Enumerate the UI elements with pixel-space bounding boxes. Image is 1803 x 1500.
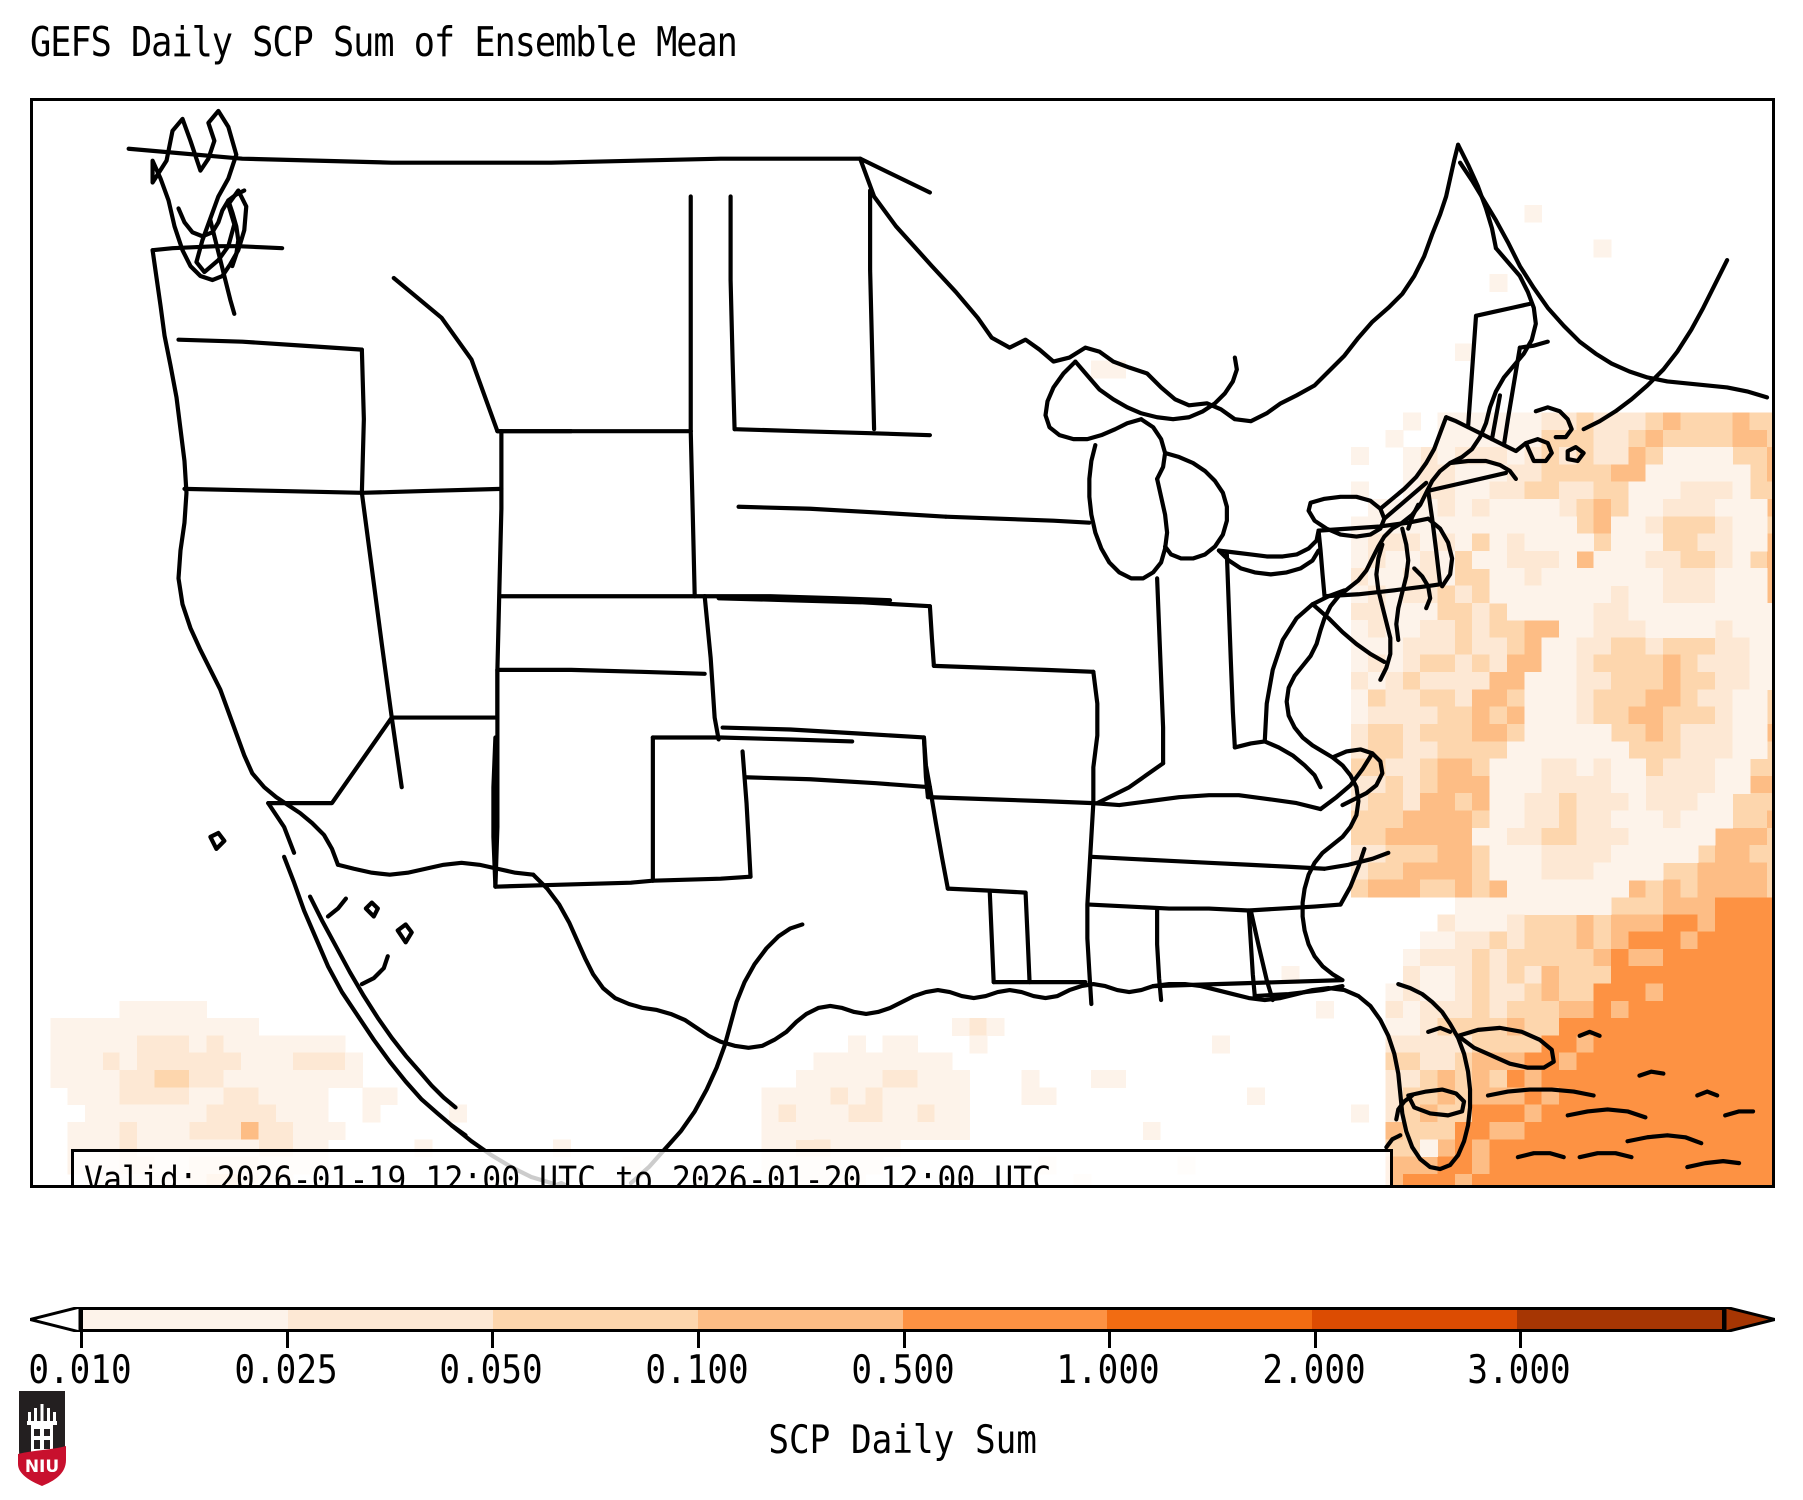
scp-grid-cell [1594, 499, 1612, 517]
scp-grid-cell [1559, 810, 1577, 828]
scp-grid-cell [1490, 464, 1508, 482]
scp-grid-cell [172, 1018, 190, 1036]
scp-grid-cell [1472, 1122, 1490, 1140]
scp-grid-cell [813, 1087, 831, 1105]
scp-grid-cell [1663, 482, 1681, 500]
scp-grid-cell [1698, 1122, 1716, 1140]
scp-grid-cell [1646, 672, 1664, 690]
scp-grid-cell [1715, 724, 1733, 742]
scp-grid-cell [813, 1122, 831, 1140]
scp-grid-cell [1403, 724, 1421, 742]
scp-grid-cell [1420, 568, 1438, 586]
scp-grid-cell [1767, 551, 1772, 569]
scp-grid-cell [1663, 603, 1681, 621]
scp-grid-cell [1490, 1035, 1508, 1053]
scp-grid-cell [1611, 897, 1629, 915]
scp-grid-cell [848, 1122, 866, 1140]
scp-grid-cell [917, 1053, 935, 1071]
scp-grid-cell [865, 1122, 883, 1140]
scp-grid-cell [206, 1070, 224, 1088]
scp-grid-cell [1472, 914, 1490, 932]
scp-grid-cell [1524, 499, 1542, 517]
scp-grid-cell [1368, 689, 1386, 707]
scp-grid-cell [1750, 482, 1768, 500]
scp-grid-cell [1767, 793, 1772, 811]
scp-grid-cell [1524, 1087, 1542, 1105]
scp-grid-cell [154, 1087, 172, 1105]
scp-grid-cell [1646, 776, 1664, 794]
scp-grid-cell [1611, 862, 1629, 880]
scp-grid-cell [1472, 464, 1490, 482]
scp-grid-cell [1750, 603, 1768, 621]
scp-grid-cell [1680, 776, 1698, 794]
scp-grid-cell [1143, 1122, 1161, 1140]
scp-grid-cell [1750, 534, 1768, 552]
scp-grid-cell [224, 1087, 242, 1105]
scp-grid-cell [1559, 759, 1577, 777]
scp-grid-cell [1594, 759, 1612, 777]
scp-grid-cell [1611, 464, 1629, 482]
scp-grid-cell [1750, 1053, 1768, 1071]
scp-grid-cell [1524, 897, 1542, 915]
scp-grid-cell [1524, 966, 1542, 984]
scp-grid-cell [1559, 862, 1577, 880]
scp-grid-cell [848, 1070, 866, 1088]
scp-grid-cell [1490, 932, 1508, 950]
scp-grid-cell [310, 1105, 328, 1123]
scp-grid-cell [1680, 1053, 1698, 1071]
scp-grid-cell [1715, 880, 1733, 898]
scp-grid-cell [1767, 534, 1772, 552]
scp-grid-cell [1767, 1035, 1772, 1053]
scp-grid-cell [1507, 447, 1525, 465]
scp-grid-cell [1628, 430, 1646, 448]
scp-grid-cell [1351, 534, 1369, 552]
scp-grid-cell [1403, 880, 1421, 898]
scp-grid-cell [1715, 655, 1733, 673]
scp-grid-cell [1091, 361, 1109, 379]
scp-grid-cell [1576, 1122, 1594, 1140]
colorbar-axis-label: SCP Daily Sum [30, 1418, 1775, 1463]
scp-grid-cell [102, 1035, 120, 1053]
scp-grid-cell [1386, 620, 1404, 638]
scp-grid-cell [1403, 1018, 1421, 1036]
scp-grid-cell [1715, 447, 1733, 465]
scp-grid-cell [1108, 1070, 1126, 1088]
scp-grid-cell [1351, 776, 1369, 794]
scp-grid-cell [1750, 793, 1768, 811]
scp-grid-cell [1680, 464, 1698, 482]
scp-grid-cell [1472, 603, 1490, 621]
scp-grid-cell [1680, 1001, 1698, 1019]
scp-grid-cell [1680, 759, 1698, 777]
scp-grid-cell [1507, 1157, 1525, 1175]
scp-grid-cell [1750, 672, 1768, 690]
scp-grid-cell [1715, 862, 1733, 880]
scp-grid-cell [1559, 1001, 1577, 1019]
scp-grid-cell [206, 1105, 224, 1123]
scp-grid-cell [68, 1018, 86, 1036]
scp-grid-cell [1715, 568, 1733, 586]
scp-grid-cell [1420, 845, 1438, 863]
colorbar-tick-label-5: 1.000 [1056, 1348, 1159, 1393]
scp-grid-cell [1490, 672, 1508, 690]
scp-grid-cell [1542, 655, 1560, 673]
scp-grid-cell [154, 1035, 172, 1053]
scp-grid-cell [987, 1018, 1005, 1036]
scp-grid-cell [1507, 880, 1525, 898]
scp-grid-cell [1628, 637, 1646, 655]
scp-grid-cell [1386, 586, 1404, 604]
scp-grid-cell [1767, 966, 1772, 984]
scp-grid-cell [1507, 464, 1525, 482]
scp-grid-cell [1594, 828, 1612, 846]
scp-grid-cell [1507, 568, 1525, 586]
scp-grid-cell [1542, 845, 1560, 863]
scp-grid-cell [1646, 689, 1664, 707]
scp-grid-cell [1559, 724, 1577, 742]
scp-grid-cell [1628, 810, 1646, 828]
scp-grid-cell [85, 1035, 103, 1053]
scp-grid-cell [1403, 810, 1421, 828]
scp-grid-cell [1351, 637, 1369, 655]
scp-grid-cell [1680, 914, 1698, 932]
scp-grid-cell [1108, 361, 1126, 379]
scp-grid-cell [1420, 1053, 1438, 1071]
scp-grid-cell [1680, 862, 1698, 880]
scp-grid-cell [1594, 880, 1612, 898]
scp-grid-cell [1594, 1035, 1612, 1053]
scp-grid-cell [1680, 499, 1698, 517]
scp-grid-cell [1663, 984, 1681, 1002]
scp-grid-cell [952, 1087, 970, 1105]
scp-grid-cell [1732, 949, 1750, 967]
scp-grid-cell [1750, 689, 1768, 707]
scp-grid-cell [1368, 499, 1386, 517]
scp-grid-cell [1663, 966, 1681, 984]
scp-grid-cell [1542, 482, 1560, 500]
scp-grid-cell [1507, 1139, 1525, 1157]
scp-grid-cell [1594, 741, 1612, 759]
scp-grid-cell [813, 1070, 831, 1088]
scp-grid-cell [1732, 1139, 1750, 1157]
scp-grid-cell [1715, 1139, 1733, 1157]
scp-grid-cell [969, 1018, 987, 1036]
scp-grid-cell [1698, 534, 1716, 552]
scp-grid-cell [68, 1053, 86, 1071]
scp-grid-cell [1576, 741, 1594, 759]
scp-grid-cell [1420, 880, 1438, 898]
scp-grid-cell [1611, 914, 1629, 932]
scp-grid-cell [1680, 845, 1698, 863]
scp-grid-cell [1646, 949, 1664, 967]
scp-grid-cell [761, 1122, 779, 1140]
scp-grid-cell [1559, 637, 1577, 655]
scp-grid-cell [1715, 551, 1733, 569]
scp-grid-cell [1472, 707, 1490, 725]
scp-grid-cell [120, 1122, 138, 1140]
scp-grid-cell [1507, 430, 1525, 448]
scp-grid-cell [1750, 637, 1768, 655]
scp-grid-cell [1750, 516, 1768, 534]
scp-grid-cell [761, 1105, 779, 1123]
scp-grid-cell [1420, 689, 1438, 707]
scp-grid-cell [1628, 1070, 1646, 1088]
scp-grid-cell [1750, 1105, 1768, 1123]
scp-grid-cell [1646, 534, 1664, 552]
scp-grid-cell [1628, 672, 1646, 690]
scp-grid-cell [1403, 984, 1421, 1002]
scp-grid-cell [1559, 776, 1577, 794]
scp-grid-cell [1663, 1122, 1681, 1140]
scp-grid-cell [1663, 828, 1681, 846]
scp-grid-cell [1368, 568, 1386, 586]
scp-grid-cell [1576, 1087, 1594, 1105]
scp-grid-cell [1368, 741, 1386, 759]
scp-grid-cell [1646, 551, 1664, 569]
scp-grid-cell [1576, 637, 1594, 655]
scp-grid-cell [1663, 672, 1681, 690]
scp-grid-cell [1455, 1053, 1473, 1071]
scp-grid-cell [1438, 776, 1456, 794]
scp-grid-cell [1507, 1122, 1525, 1140]
scp-grid-cell [1698, 759, 1716, 777]
scp-grid-cell [1611, 637, 1629, 655]
scp-grid-cell [1559, 1053, 1577, 1071]
scp-grid-cell [1663, 1087, 1681, 1105]
scp-grid-cell [1490, 516, 1508, 534]
scp-grid-cell [1386, 1122, 1404, 1140]
scp-grid-cell [1542, 1174, 1560, 1185]
scp-grid-cell [1576, 586, 1594, 604]
scp-grid-cell [1611, 759, 1629, 777]
scp-grid-cell [1438, 793, 1456, 811]
scp-grid-cell [1403, 672, 1421, 690]
colorbar-extend-max-arrow [1725, 1307, 1775, 1332]
scp-grid-cell [1750, 1122, 1768, 1140]
scp-grid-cell [1750, 932, 1768, 950]
scp-grid-cell [1750, 828, 1768, 846]
scp-grid-cell [1386, 810, 1404, 828]
page-title: GEFS Daily SCP Sum of Ensemble Mean [30, 18, 737, 66]
scp-grid-cell [1420, 793, 1438, 811]
scp-grid-cell [1386, 637, 1404, 655]
scp-grid-cell [1455, 447, 1473, 465]
scp-grid-cell [1732, 1001, 1750, 1019]
scp-grid-cell [1455, 655, 1473, 673]
scp-grid-cell [1368, 655, 1386, 673]
colorbar-tick-7 [1519, 1332, 1522, 1348]
scp-grid-cell [1507, 707, 1525, 725]
scp-grid-cell [1386, 689, 1404, 707]
scp-grid-cell [1368, 672, 1386, 690]
scp-grid-cell [813, 1105, 831, 1123]
scp-grid-cell [1455, 343, 1473, 361]
scp-grid-cell [1594, 862, 1612, 880]
scp-grid-cell [1507, 932, 1525, 950]
scp-grid-cell [380, 1087, 398, 1105]
scp-grid-cell [1611, 845, 1629, 863]
scp-grid-cell [1455, 984, 1473, 1002]
forecast-info-box: Valid: 2026-01-19 12:00 UTC to 2026-01-2… [71, 1149, 1393, 1188]
scp-grid-cell [779, 1087, 797, 1105]
scp-grid-cell [1628, 1139, 1646, 1157]
scp-grid-cell [1420, 551, 1438, 569]
scp-grid-cell [1732, 828, 1750, 846]
scp-grid-cell [1663, 447, 1681, 465]
scp-grid-cell [1698, 1035, 1716, 1053]
scp-grid-cell [1767, 447, 1772, 465]
scp-grid-cell [1594, 239, 1612, 257]
colorbar-tick-6 [1314, 1332, 1317, 1348]
scp-grid-cell [1680, 482, 1698, 500]
scp-grid-cell [1628, 1035, 1646, 1053]
scp-grid-cell [1472, 1070, 1490, 1088]
scp-grid-cell [1559, 1157, 1577, 1175]
scp-grid-cell [1715, 516, 1733, 534]
scp-grid-cell [1715, 759, 1733, 777]
scp-grid-cell [1732, 430, 1750, 448]
scp-grid-cell [1420, 759, 1438, 777]
scp-grid-cell [1628, 828, 1646, 846]
scp-grid-cell [1403, 1070, 1421, 1088]
scp-grid-cell [1646, 1174, 1664, 1185]
scp-grid-cell [1524, 551, 1542, 569]
colorbar-axis-label-text: SCP Daily Sum [768, 1418, 1037, 1463]
scp-grid-cell [883, 1105, 901, 1123]
scp-grid-cell [1715, 620, 1733, 638]
scp-grid-cell [1628, 741, 1646, 759]
scp-grid-cell [1559, 551, 1577, 569]
scp-grid-cell [1750, 1157, 1768, 1175]
scp-grid-cell [1524, 1174, 1542, 1185]
scp-grid-cell [1646, 586, 1664, 604]
scp-grid-cell [1628, 932, 1646, 950]
scp-grid-cell [1680, 1035, 1698, 1053]
scp-grid-cell [224, 1035, 242, 1053]
scp-grid-cell [1524, 741, 1542, 759]
scp-grid-cell [1646, 1001, 1664, 1019]
scp-grid-cell [1524, 637, 1542, 655]
scp-grid-cell [1386, 603, 1404, 621]
scp-grid-cell [1715, 1174, 1733, 1185]
scp-grid-cell [1559, 914, 1577, 932]
scp-grid-cell [1542, 828, 1560, 846]
scp-grid-cell [1698, 880, 1716, 898]
scp-grid-cell [1680, 793, 1698, 811]
scp-grid-cell [1368, 862, 1386, 880]
scp-grid-cell [1472, 534, 1490, 552]
scp-grid-cell [1386, 655, 1404, 673]
scp-grid-cell [1646, 862, 1664, 880]
scp-grid-cell [1490, 1157, 1508, 1175]
colorbar-tick-label-3: 0.100 [645, 1348, 748, 1393]
scp-grid-cell [293, 1035, 311, 1053]
scp-grid-cell [1611, 655, 1629, 673]
scp-grid-cell [1611, 620, 1629, 638]
scp-grid-cell [1594, 845, 1612, 863]
scp-grid-cell [1420, 949, 1438, 967]
scp-grid-cell [1715, 1122, 1733, 1140]
scp-grid-cell [1611, 793, 1629, 811]
scp-grid-cell [1750, 568, 1768, 586]
scp-grid-cell [1767, 949, 1772, 967]
scp-grid-cell [1750, 741, 1768, 759]
scp-grid-cell [1663, 932, 1681, 950]
scp-grid-cell [1455, 586, 1473, 604]
scp-grid-cell [1559, 672, 1577, 690]
scp-grid-cell [293, 1087, 311, 1105]
scp-grid-cell [1576, 412, 1594, 430]
scp-grid-cell [1438, 724, 1456, 742]
scp-grid-cell [1490, 914, 1508, 932]
scp-grid-cell [120, 1087, 138, 1105]
scp-grid-cell [1715, 586, 1733, 604]
scp-grid-cell [1420, 672, 1438, 690]
scp-grid-cell [1507, 412, 1525, 430]
scp-grid-cell [1420, 707, 1438, 725]
scp-grid-cell [1542, 932, 1560, 950]
scp-grid-cell [1559, 1122, 1577, 1140]
scp-grid-cell [1680, 1122, 1698, 1140]
scp-grid-cell [1438, 620, 1456, 638]
scp-grid-cell [831, 1053, 849, 1071]
scp-grid-cell [1455, 1105, 1473, 1123]
scp-grid-cell [1455, 810, 1473, 828]
scp-grid-cell [1507, 499, 1525, 517]
scp-grid-cell [189, 1001, 207, 1019]
scp-grid-cell [1715, 464, 1733, 482]
scp-grid-cell [1386, 880, 1404, 898]
scp-grid-cell [1611, 741, 1629, 759]
scp-grid-cell [1715, 1070, 1733, 1088]
scp-grid-cell [293, 1053, 311, 1071]
scp-grid-cell [224, 1122, 242, 1140]
scp-grid-cell [1628, 914, 1646, 932]
scp-grid-cell [1438, 1122, 1456, 1140]
scp-grid-cell [1438, 1157, 1456, 1175]
scp-grid-cell [1524, 984, 1542, 1002]
scp-grid-cell [137, 1035, 155, 1053]
scp-grid-cell [1559, 586, 1577, 604]
scp-grid-cell [1490, 759, 1508, 777]
scp-grid-cell [1386, 845, 1404, 863]
scp-grid-cell [1767, 1018, 1772, 1036]
scp-grid-cell [1628, 793, 1646, 811]
scp-grid-cell [1490, 793, 1508, 811]
scp-grid-cell [1663, 776, 1681, 794]
scp-grid-cell [1507, 1001, 1525, 1019]
scp-grid-cell [1455, 482, 1473, 500]
scp-grid-cell [1663, 516, 1681, 534]
scp-grid-cell [1628, 776, 1646, 794]
scp-grid-cell [1559, 412, 1577, 430]
scp-grid-cell [1715, 707, 1733, 725]
scp-grid-cell [1750, 776, 1768, 794]
scp-grid-cell [189, 1087, 207, 1105]
scp-grid-cell [1646, 464, 1664, 482]
scp-grid-cell [1438, 655, 1456, 673]
scp-grid-cell [1715, 984, 1733, 1002]
scp-grid-cell [1628, 447, 1646, 465]
scp-grid-cell [1438, 707, 1456, 725]
scp-grid-cell [1663, 620, 1681, 638]
scp-grid-cell [310, 1087, 328, 1105]
scp-grid-cell [154, 1053, 172, 1071]
scp-grid-cell [1438, 880, 1456, 898]
scp-grid-cell [1542, 672, 1560, 690]
scp-grid-cell [1767, 880, 1772, 898]
